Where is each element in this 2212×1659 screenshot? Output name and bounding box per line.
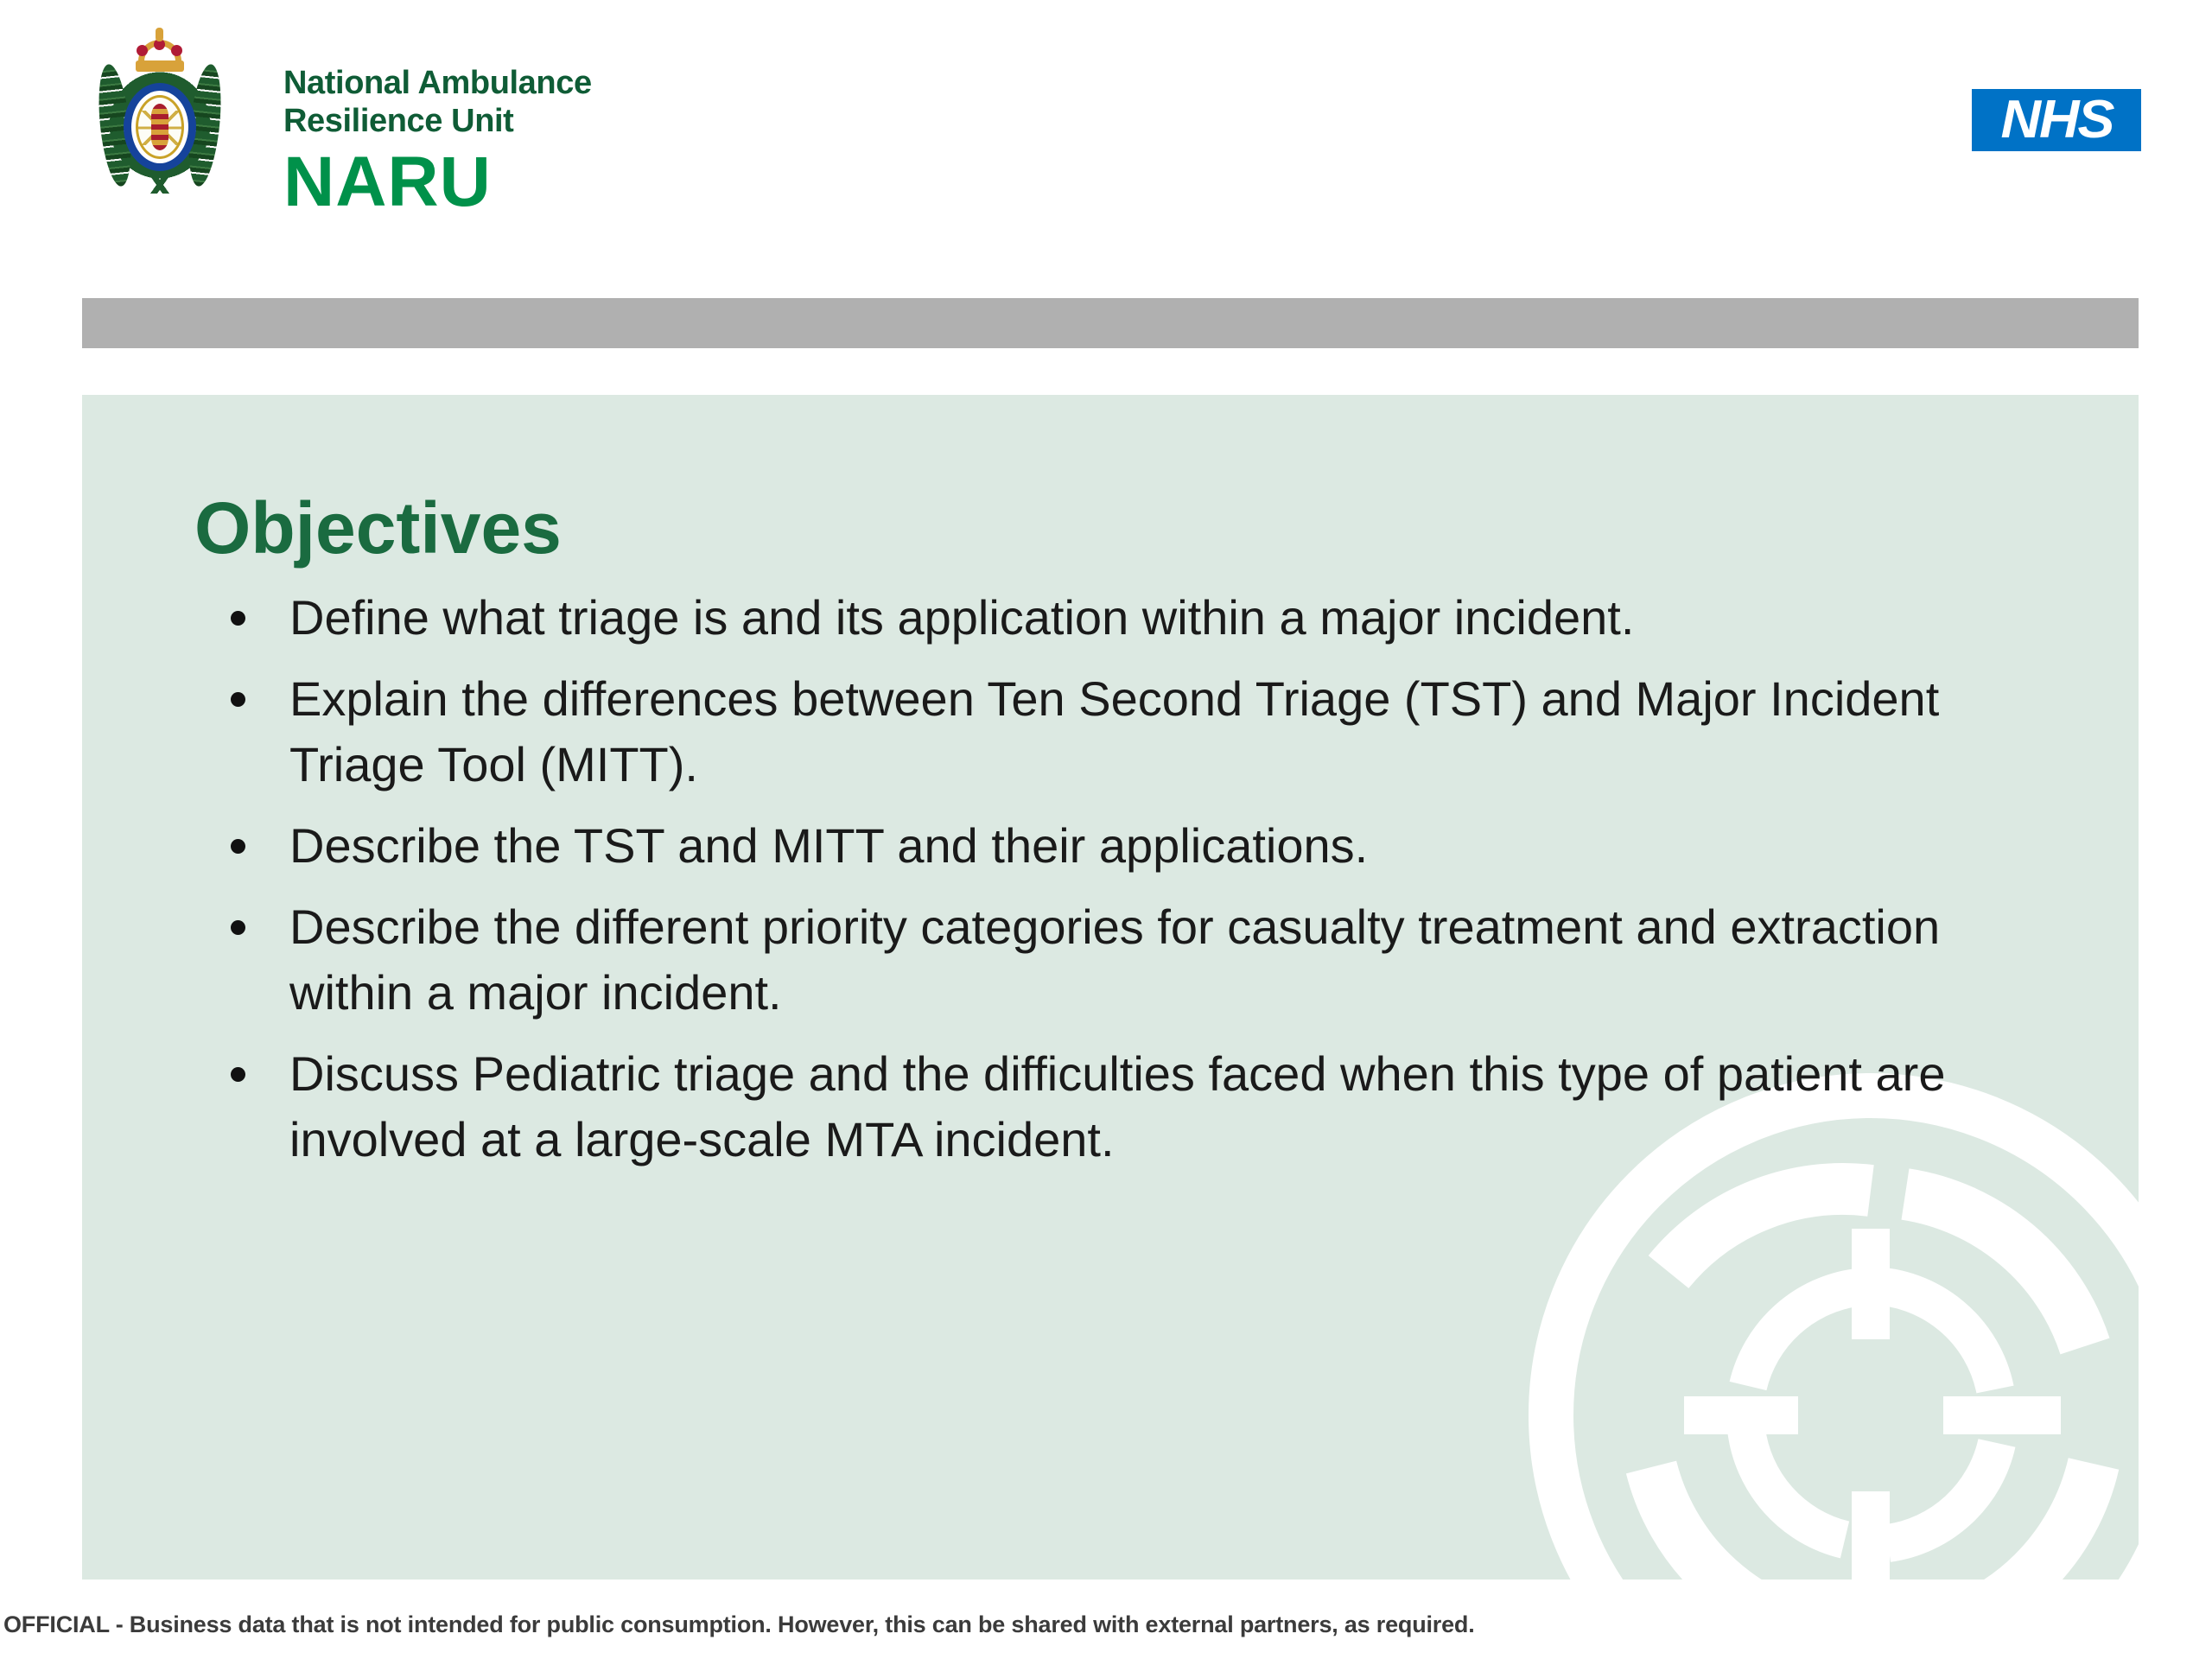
list-item-text: Explain the differences between Ten Seco… (289, 671, 1939, 791)
list-item-text: Define what triage is and its applicatio… (289, 590, 1634, 645)
header-divider-bar (82, 298, 2139, 348)
list-item: Describe the different priority categori… (194, 894, 2026, 1026)
list-item: Discuss Pediatric triage and the difficu… (194, 1041, 2026, 1173)
organisation-acronym: NARU (283, 145, 592, 219)
organisation-name-line1: National Ambulance (283, 64, 592, 102)
bullet-dot-icon (231, 692, 245, 707)
bullet-dot-icon (231, 920, 245, 935)
page-title: Objectives (194, 486, 562, 569)
bullet-dot-icon (231, 611, 245, 626)
objectives-list: Define what triage is and its applicatio… (194, 585, 2026, 1188)
nhs-logo-text: NHS (2000, 93, 2113, 147)
slide-header: National Ambulance Resilience Unit NARU … (0, 0, 2212, 285)
list-item-text: Describe the TST and MITT and their appl… (289, 818, 1368, 873)
ambulance-service-crest-icon (86, 24, 233, 197)
list-item: Describe the TST and MITT and their appl… (194, 813, 2026, 879)
classification-footer: OFFICIAL - Business data that is not int… (0, 1609, 2212, 1640)
list-item: Define what triage is and its applicatio… (194, 585, 2026, 651)
bullet-dot-icon (231, 839, 245, 854)
nhs-logo: NHS (1972, 89, 2141, 151)
list-item-text: Discuss Pediatric triage and the difficu… (289, 1046, 1945, 1166)
bullet-dot-icon (231, 1067, 245, 1082)
list-item: Explain the differences between Ten Seco… (194, 666, 2026, 798)
slide-content-panel: Objectives Define what triage is and its… (82, 395, 2139, 1580)
naru-logo: National Ambulance Resilience Unit NARU (86, 24, 592, 219)
list-item-text: Describe the different priority categori… (289, 899, 1940, 1020)
naru-wordmark: National Ambulance Resilience Unit NARU (283, 24, 592, 219)
organisation-name-line2: Resilience Unit (283, 102, 592, 140)
